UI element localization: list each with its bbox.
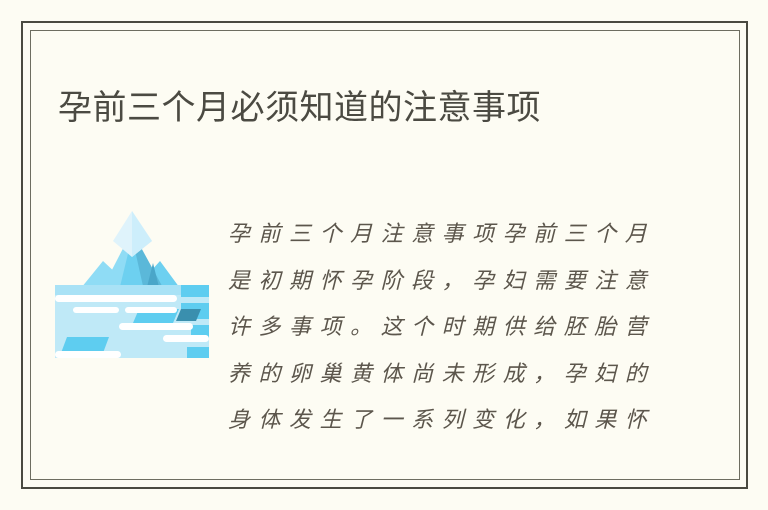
article-card: 孕前三个月必须知道的注意事项 [0, 0, 768, 510]
foam-line-5 [163, 335, 209, 342]
page-title: 孕前三个月必须知道的注意事项 [58, 85, 698, 131]
foam-line-4 [119, 323, 193, 330]
foam-line-1 [55, 295, 177, 302]
iceberg-svg [55, 205, 210, 363]
ice-floe-left [61, 337, 109, 353]
article-body: 孕前三个月注意事项孕前三个月 是初期怀孕阶段，孕妇需要注意 许多事项。这个时期供… [228, 212, 648, 445]
body-line: 孕前三个月注意事项孕前三个月 [228, 212, 648, 259]
water-bottom-fade [55, 358, 209, 363]
foam-line-3 [125, 307, 177, 313]
body-line: 身体发生了一系列变化，如果怀 [228, 398, 648, 445]
body-line: 养的卵巢黄体尚未形成，孕妇的 [228, 352, 648, 399]
body-line: 是初期怀孕阶段，孕妇需要注意 [228, 259, 648, 306]
water-accent-top-right [181, 285, 209, 297]
body-line: 许多事项。这个时期供给胚胎营 [228, 305, 648, 352]
foam-line-2 [73, 307, 119, 313]
foam-line-6 [55, 351, 121, 358]
iceberg-illustration [55, 205, 210, 363]
